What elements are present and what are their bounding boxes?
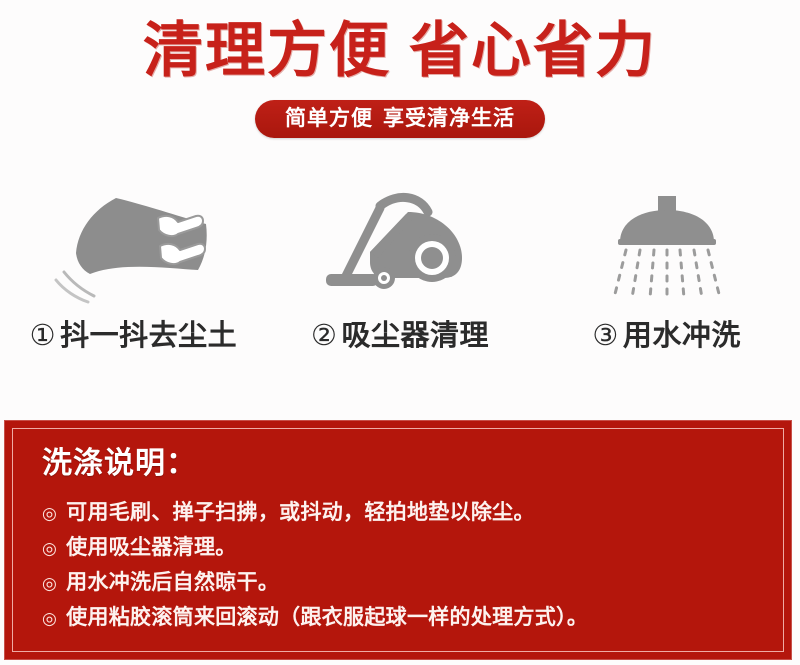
page-title: 清理方便省心省力: [0, 16, 800, 86]
step-3-text: 用水冲洗: [623, 320, 741, 352]
subtitle-badge: 简单方便享受清净生活: [255, 100, 545, 138]
headline-part-1: 清理方便: [143, 17, 391, 84]
step-1-number: ①: [30, 320, 57, 352]
step-3: ③用水冲洗: [533, 190, 800, 380]
panel-content: 洗涤说明： ◎ 可用毛刷、掸子扫拂，或抖动，轻拍地垫以除尘。 ◎ 使用吸尘器清理…: [42, 446, 764, 636]
instruction-text: 使用粘胶滚筒来回滚动（跟衣服起球一样的处理方式）。: [66, 601, 588, 635]
subtitle-part-1: 简单方便: [285, 107, 373, 130]
instruction-item: ◎ 用水冲洗后自然晾干。: [42, 566, 764, 601]
header: 清理方便省心省力 简单方便享受清净生活: [0, 0, 800, 150]
bullet-icon: ◎: [42, 532, 57, 566]
step-3-number: ③: [592, 320, 619, 352]
step-1: ①抖一抖去尘土: [0, 190, 267, 380]
shaking-mat-icon: [0, 190, 267, 305]
instruction-item: ◎ 使用粘胶滚筒来回滚动（跟衣服起球一样的处理方式）。: [42, 601, 764, 636]
bullet-icon: ◎: [42, 497, 57, 531]
promo-page: 清理方便省心省力 简单方便享受清净生活 ①抖一抖去尘土: [0, 0, 800, 665]
instruction-text: 使用吸尘器清理。: [66, 531, 236, 565]
instruction-item: ◎ 使用吸尘器清理。: [42, 531, 764, 566]
subtitle-part-2: 享受清净生活: [383, 107, 515, 130]
shower-head-icon: [533, 190, 800, 305]
step-2: ②吸尘器清理: [267, 190, 534, 380]
bullet-icon: ◎: [42, 567, 57, 601]
step-2-text: 吸尘器清理: [342, 320, 490, 352]
bullet-icon: ◎: [42, 602, 57, 636]
headline-part-2: 省心省力: [409, 17, 657, 84]
instruction-item: ◎ 可用毛刷、掸子扫拂，或抖动，轻拍地垫以除尘。: [42, 496, 764, 531]
instructions-title: 洗涤说明：: [42, 446, 764, 482]
step-1-label: ①抖一抖去尘土: [30, 319, 238, 353]
step-1-text: 抖一抖去尘土: [60, 320, 237, 352]
step-2-number: ②: [311, 320, 338, 352]
step-3-label: ③用水冲洗: [592, 319, 741, 353]
vacuum-cleaner-icon: [267, 190, 534, 305]
cleaning-steps: ①抖一抖去尘土 ②: [0, 190, 800, 380]
washing-instructions-panel: 洗涤说明： ◎ 可用毛刷、掸子扫拂，或抖动，轻拍地垫以除尘。 ◎ 使用吸尘器清理…: [4, 420, 792, 660]
instruction-text: 用水冲洗后自然晾干。: [66, 566, 279, 600]
instruction-text: 可用毛刷、掸子扫拂，或抖动，轻拍地垫以除尘。: [66, 496, 535, 530]
step-2-label: ②吸尘器清理: [311, 319, 489, 353]
